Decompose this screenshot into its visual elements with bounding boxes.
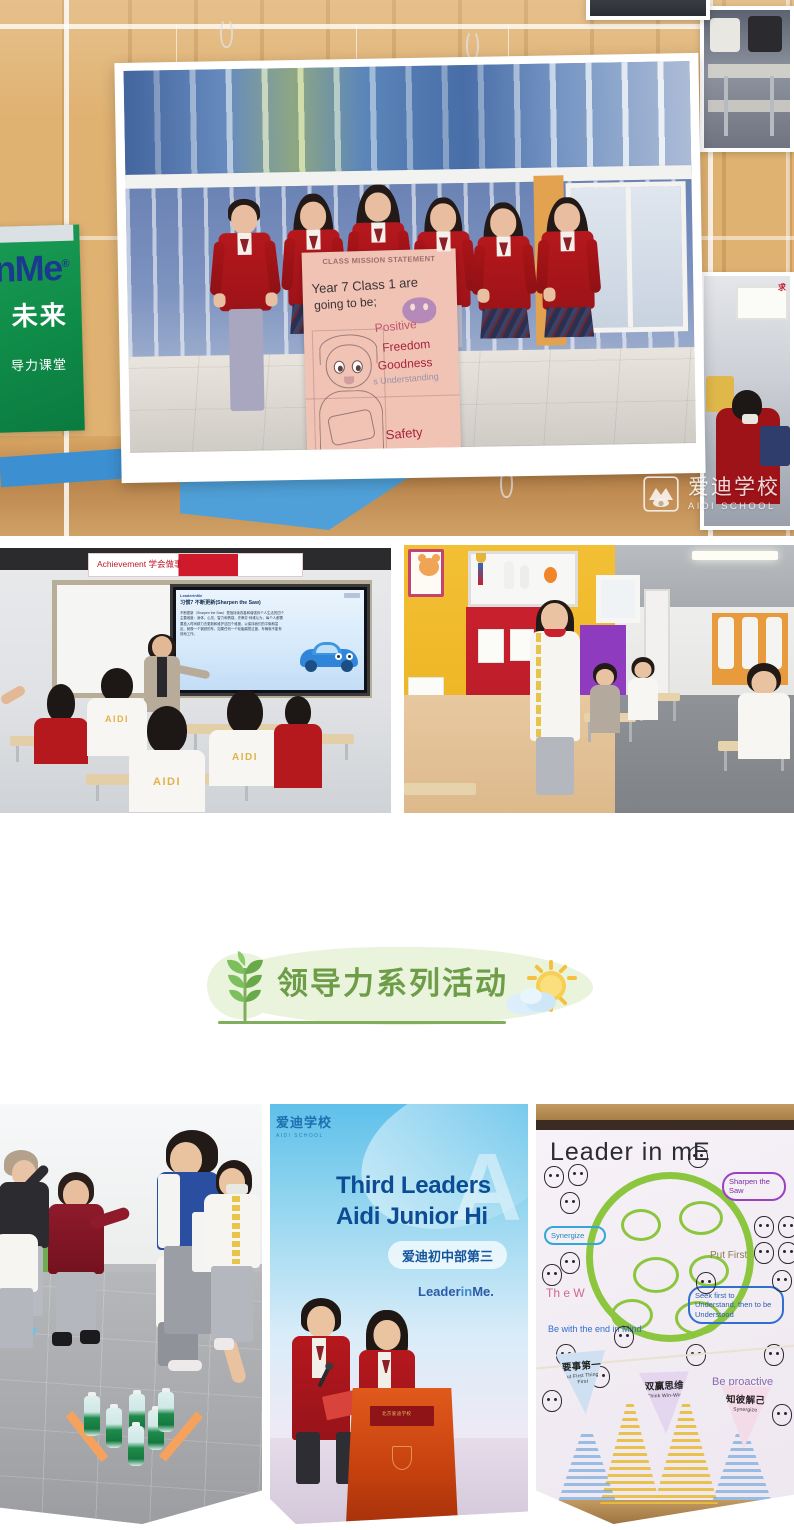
- seated-student-figure: [736, 663, 792, 759]
- satellite-photo-top: [586, 0, 710, 20]
- sun-behind-cloud-icon: [505, 958, 577, 1020]
- poster-anime-sketch: [312, 328, 388, 452]
- annotation-bubble: Sharpen the Saw: [722, 1172, 786, 1201]
- exhibition-board-hero-photo: 求 nMe® 未来 导力课堂: [0, 0, 794, 536]
- poster-value: Safety: [385, 424, 423, 442]
- standing-student-figure: [522, 603, 588, 799]
- poster-value: Freedom: [382, 337, 431, 355]
- orange-ball-icon: [544, 567, 557, 583]
- doodle-face-icon: [754, 1216, 774, 1238]
- poster-line-2: going to be;: [314, 295, 377, 313]
- podium-crest-icon: [392, 1446, 412, 1470]
- doodle-face-icon: [696, 1272, 716, 1294]
- student-figure: [538, 197, 600, 450]
- seated-student-figure: [588, 663, 622, 733]
- mounted-group-photo: CLASS MISSION STATEMENT Year 7 Class 1 a…: [114, 53, 705, 483]
- pupil-figure: AIDI: [208, 690, 282, 786]
- annotation-bubble: Synergize: [544, 1226, 606, 1245]
- bear-poster: [408, 549, 444, 597]
- water-bottle: [128, 1422, 144, 1466]
- pupil-figure: [32, 684, 90, 764]
- water-bottle: [106, 1404, 122, 1448]
- annotation-text: Put First: [710, 1250, 747, 1261]
- doodle-face-icon: [772, 1404, 792, 1426]
- speaking-podium: 北京爱迪学校: [346, 1388, 458, 1524]
- pinned-sheet: [478, 629, 504, 663]
- watermark-cn-text: 爱迪学校: [688, 477, 780, 498]
- slide-school-badge: [344, 593, 360, 598]
- uniform-label: AIDI: [232, 752, 258, 763]
- leader-in-me-lesson-photo: Achievement 学会做事 LeaderinMe 习惯7 不断更新(Sha…: [0, 548, 391, 813]
- uniform-label: AIDI: [153, 776, 181, 788]
- slide-title: 习惯7 不断更新(Sharpen the Saw): [180, 599, 360, 606]
- screen-title-line-1: Third Leaders: [336, 1172, 491, 1200]
- doodle-face-icon: [568, 1164, 588, 1186]
- doodle-face-icon: [772, 1270, 792, 1292]
- leader-in-me-brand: LeaderinMe.: [418, 1284, 494, 1299]
- doodle-face-icon: [754, 1242, 774, 1264]
- satellite-photo-classroom-1: [700, 6, 794, 152]
- doodle-face-icon: [778, 1216, 794, 1238]
- corridor-glass-row: [124, 61, 692, 183]
- class-mission-statement-poster: CLASS MISSION STATEMENT Year 7 Class 1 a…: [302, 248, 462, 453]
- slide-body-text: 不断更新（Sharpen the Saw）是指持续改善和增强你个人生活的四个主要…: [180, 611, 284, 637]
- doodle-face-icon: [544, 1166, 564, 1188]
- student-figure: [214, 200, 278, 451]
- poster-value: Goodness: [377, 355, 432, 372]
- poster-line-1: Year 7 Class 1 are: [311, 275, 418, 297]
- green-sprout-icon: [218, 948, 272, 1024]
- screen-subtitle-cn: 爱迪初中部第三: [388, 1241, 507, 1269]
- shelf-bottle: [504, 561, 514, 589]
- doodle-face-icon: [560, 1192, 580, 1214]
- standee-brand-text: nMe®: [0, 251, 75, 288]
- hanger-hook-icon: [466, 30, 479, 60]
- outdoor-bottle-activity-photo: [0, 1104, 262, 1524]
- leadership-series-section-title: 领导力系列活动: [0, 930, 794, 1065]
- poster-heading: CLASS MISSION STATEMENT: [306, 254, 452, 267]
- seated-student-figure: [626, 657, 660, 719]
- aidi-school-watermark: 爱迪学校 AIDI SCHOOL: [643, 476, 780, 512]
- poster-title-handwritten: Leader in mE: [550, 1138, 711, 1167]
- logo-cn-text: 爱迪学校: [276, 1112, 332, 1131]
- doodle-face-icon: [560, 1252, 580, 1274]
- classroom-discussion-photo: [404, 545, 794, 813]
- interior-window: [596, 575, 640, 623]
- logo-en-text: AIDI SCHOOL: [276, 1133, 332, 1139]
- water-bottle: [158, 1388, 174, 1432]
- wall-banner: Achievement 学会做事: [88, 553, 303, 577]
- annotation-text: Th e W: [546, 1286, 585, 1300]
- podium-plate-text: 北京爱迪学校: [382, 1411, 411, 1417]
- aidi-shield-logo-icon: [643, 476, 679, 512]
- blue-car-icon: [300, 642, 358, 672]
- aidi-school-logo: 爱迪学校 AIDI SCHOOL: [276, 1112, 332, 1139]
- standee-cn-large: 未来: [0, 285, 76, 335]
- display-rail-horizontal: [0, 24, 794, 29]
- student-figure: [0, 1234, 46, 1364]
- student-figure: [200, 1162, 262, 1358]
- screen-title-line-2: Aidi Junior Hi: [336, 1203, 488, 1231]
- ceiling-with-light: [615, 545, 794, 607]
- leader-in-me-handdrawn-poster-photo: Leader in mE Sharpen the Saw Synergize S…: [536, 1104, 794, 1524]
- uniform-label: AIDI: [105, 714, 129, 724]
- pupil-figure: [272, 696, 324, 788]
- slide-brand-logo: LeaderinMe: [180, 593, 360, 598]
- water-bottle: [84, 1392, 100, 1436]
- standee-cn-small: 导力课堂: [0, 332, 77, 376]
- student-desk: [404, 783, 476, 795]
- doodle-face-icon: [778, 1242, 794, 1264]
- doodle-face-icon: [614, 1326, 634, 1348]
- leadership-day-stage-photo: A 爱迪学校 AIDI SCHOOL Third Leaders Aidi Ju…: [270, 1104, 528, 1524]
- wall-banner-text: Achievement 学会做事: [97, 558, 183, 570]
- shelf-bottle: [520, 565, 529, 589]
- doodle-face-icon: [542, 1390, 562, 1412]
- podium-name-plate: 北京爱迪学校: [370, 1406, 434, 1426]
- ceiling-light-icon: [692, 551, 778, 560]
- leader-in-me-green-standee: nMe® 未来 导力课堂: [0, 224, 85, 433]
- hanging-wire: [176, 24, 177, 64]
- doodle-face-icon: [542, 1264, 562, 1286]
- hanging-wire: [356, 24, 357, 62]
- pupil-figure: AIDI: [128, 706, 206, 812]
- watermark-en-text: AIDI SCHOOL: [688, 502, 780, 512]
- student-figure: [474, 202, 536, 453]
- smart-display: LeaderinMe 习惯7 不断更新(Sharpen the Saw) 不断更…: [170, 584, 370, 696]
- hanger-hook-icon: [220, 18, 233, 48]
- hanging-wire: [508, 24, 509, 60]
- trophy-icon: [474, 553, 488, 587]
- doodle-face-icon: [688, 1146, 708, 1168]
- wall-wood-trim: [536, 1104, 794, 1120]
- wall-dark-trim: [536, 1120, 794, 1130]
